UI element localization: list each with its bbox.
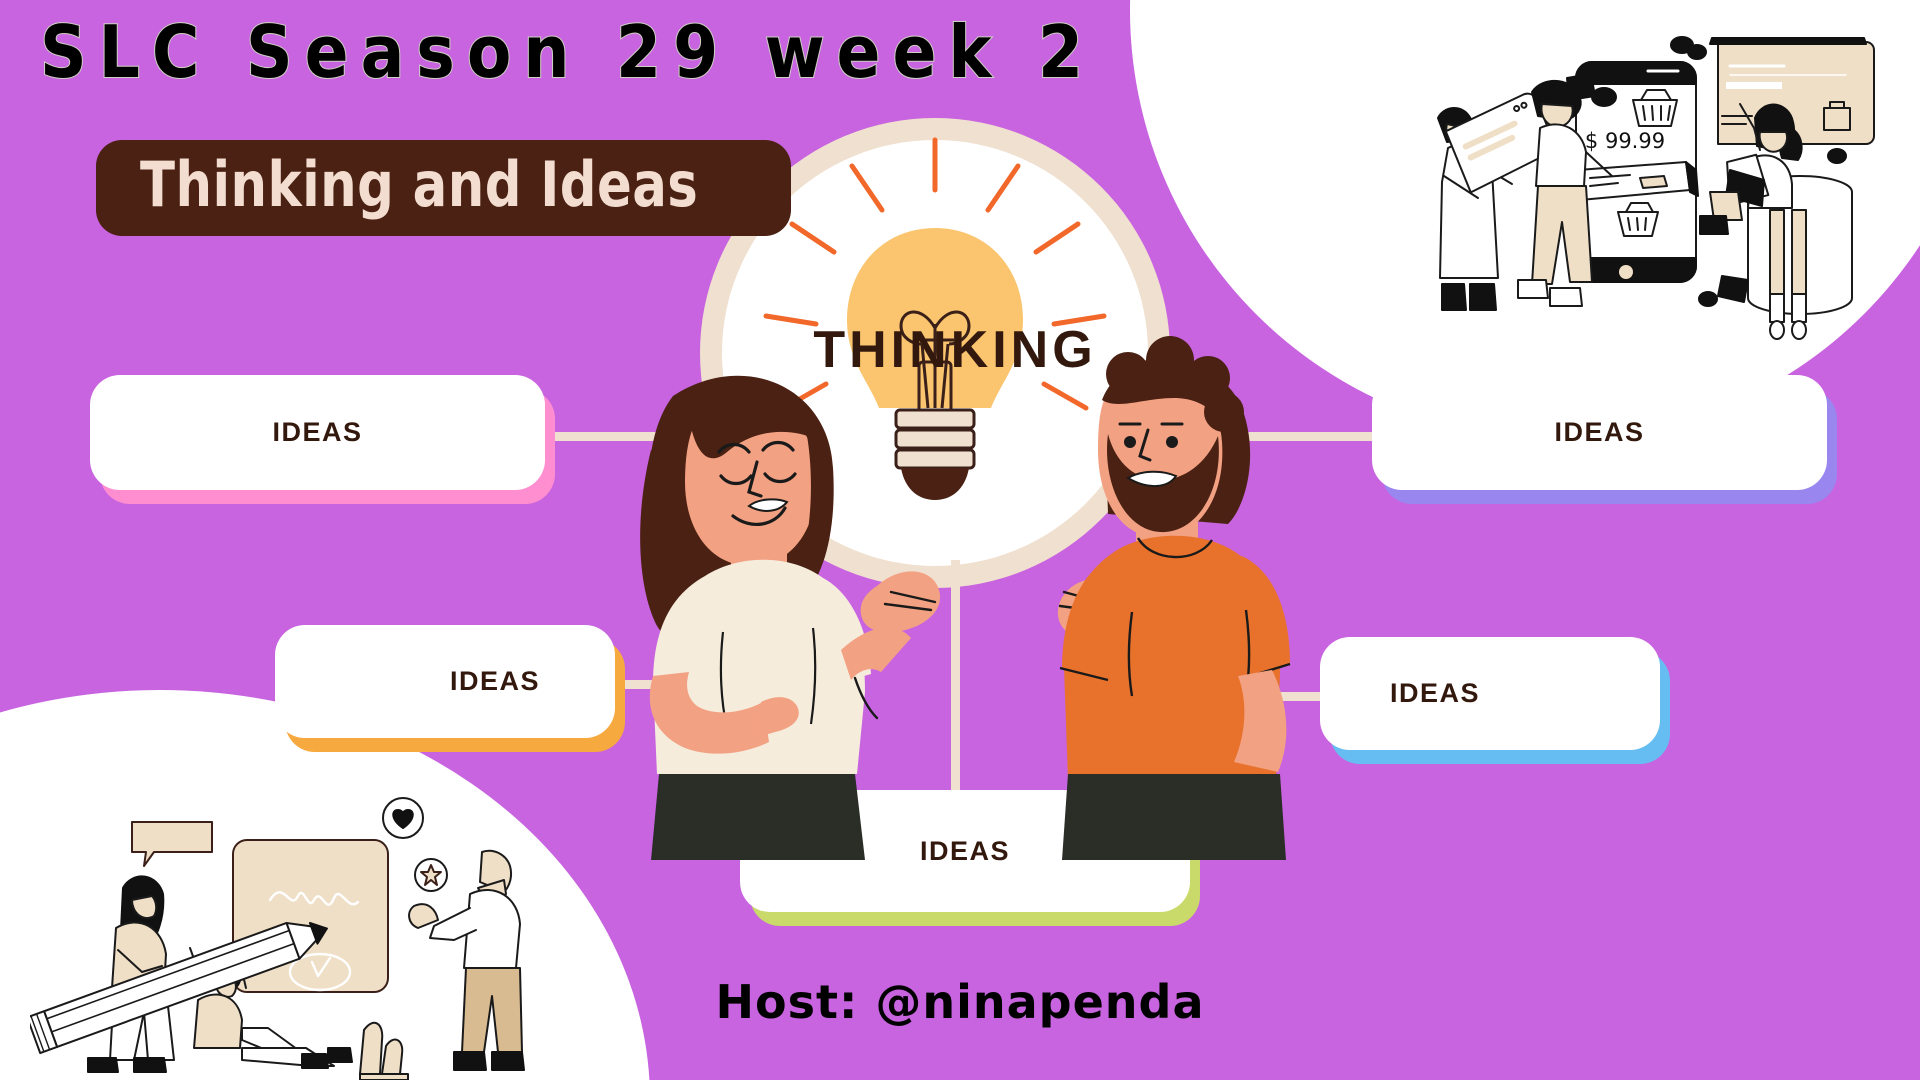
page-title: SLC Season 29 week 2 xyxy=(40,10,1095,94)
idea-box-card[interactable]: IDEAS xyxy=(1372,375,1827,490)
idea-box-card[interactable]: IDEAS xyxy=(90,375,545,490)
idea-box-label: IDEAS xyxy=(450,666,540,697)
idea-box-top-left[interactable]: IDEAS xyxy=(90,375,545,490)
idea-box-label: IDEAS xyxy=(1390,678,1480,709)
idea-box-middle-right[interactable]: IDEAS xyxy=(1320,637,1660,750)
giant-pencil-drawing-illustration xyxy=(30,760,590,1080)
poster-canvas: $ 99.99 xyxy=(0,0,1920,1080)
idea-box-card[interactable]: IDEAS xyxy=(1320,637,1660,750)
idea-box-label: IDEAS xyxy=(1554,417,1644,448)
subtitle-pill: Thinking and Ideas xyxy=(96,140,791,236)
woman-character xyxy=(555,340,975,860)
idea-box-label: IDEAS xyxy=(272,417,362,448)
svg-text:$ 99.99: $ 99.99 xyxy=(1585,129,1665,153)
idea-box-top-right[interactable]: IDEAS xyxy=(1372,375,1827,490)
ecommerce-shopping-illustration: $ 99.99 xyxy=(1400,0,1920,350)
host-credit: Host: @ninapenda xyxy=(0,975,1920,1029)
man-character xyxy=(1010,330,1370,860)
subtitle-text: Thinking and Ideas xyxy=(140,154,698,216)
